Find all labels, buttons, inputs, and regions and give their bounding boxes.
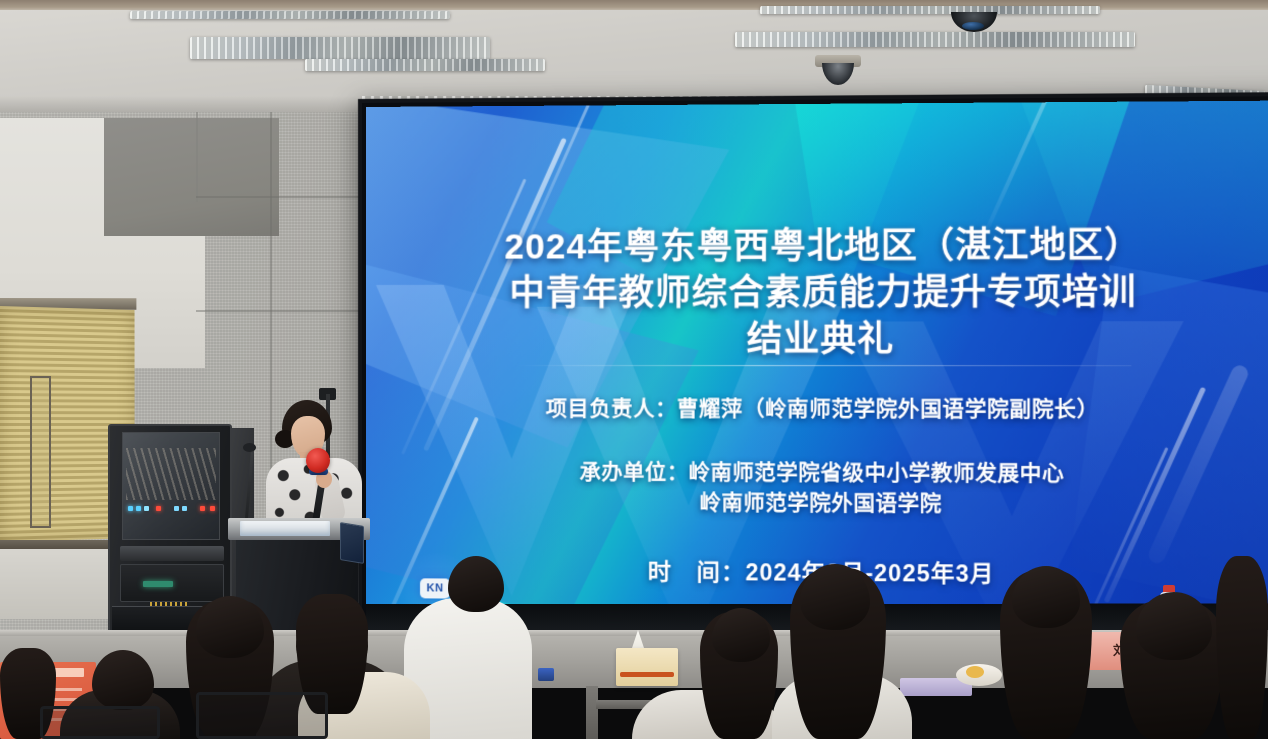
podium-mic-head — [243, 443, 256, 452]
snack-plate — [956, 664, 1002, 686]
wall-seam — [196, 112, 198, 202]
audience-person-hair — [1216, 556, 1268, 739]
tissue-box — [616, 648, 678, 686]
ceiling-light-panel — [130, 11, 451, 19]
podium-nameplate — [240, 521, 330, 536]
wall-panel — [104, 118, 279, 236]
screen-text-content: 2024年粤东粤西粤北地区（湛江地区） 中青年教师综合素质能力提升专项培训 结业… — [366, 101, 1268, 614]
ceiling-light-panel — [305, 59, 545, 71]
screen-title-line-2: 中青年教师综合素质能力提升专项培训 — [366, 269, 1268, 317]
ceiling-light-panel — [735, 32, 1135, 47]
microphone-windscreen — [306, 448, 330, 473]
audience-person-head — [196, 596, 264, 658]
blue-cup — [538, 668, 554, 681]
table-leg — [586, 686, 598, 739]
lower-wall-white — [0, 549, 120, 619]
podium-control-tablet[interactable] — [340, 522, 364, 564]
conference-photo-scene: KN 2024年粤东粤西粤北地区（湛江地区） 中青年教师综合素质能力提升专项培训… — [0, 0, 1268, 739]
audience-person-head — [92, 650, 154, 710]
wall-seam — [196, 310, 376, 312]
ceiling-light-panel — [190, 37, 490, 59]
screen-title-line-3: 结业典礼 — [366, 316, 1268, 363]
title-divider — [516, 365, 1131, 366]
organizer-line-1: 承办单位：岭南师范学院省级中小学教师发展中心 — [366, 457, 1268, 491]
led-screen-display[interactable]: KN 2024年粤东粤西粤北地区（湛江地区） 中青年教师综合素质能力提升专项培训… — [366, 101, 1268, 614]
rack-status-leds — [126, 504, 218, 514]
wall-seam — [196, 196, 376, 198]
rack-unit — [120, 564, 224, 602]
speaker-person — [258, 400, 370, 530]
audience-person-head — [712, 608, 770, 662]
audience-person-head — [448, 556, 504, 612]
rack-unit — [120, 546, 224, 561]
chair-back — [196, 692, 328, 739]
audience-person-head — [1012, 566, 1080, 628]
organizer-line-2: 岭南师范学院外国语学院 — [366, 487, 1268, 522]
wood-panel-handle — [30, 376, 51, 528]
screen-title-line-1: 2024年粤东粤西粤北地区（湛江地区） — [366, 222, 1268, 272]
organizer-block: 承办单位：岭南师范学院省级中小学教师发展中心 岭南师范学院外国语学院 — [366, 457, 1268, 522]
ceiling-light-panel — [760, 6, 1100, 14]
project-leader-line: 项目负责人：曹耀萍（岭南师范学院外国语学院副院长） — [366, 392, 1268, 424]
screen-title-block: 2024年粤东粤西粤北地区（湛江地区） 中青年教师综合素质能力提升专项培训 结业… — [366, 222, 1268, 364]
chair-back — [40, 706, 160, 739]
rack-cabling — [126, 448, 216, 500]
dome-camera-lens — [962, 22, 984, 30]
